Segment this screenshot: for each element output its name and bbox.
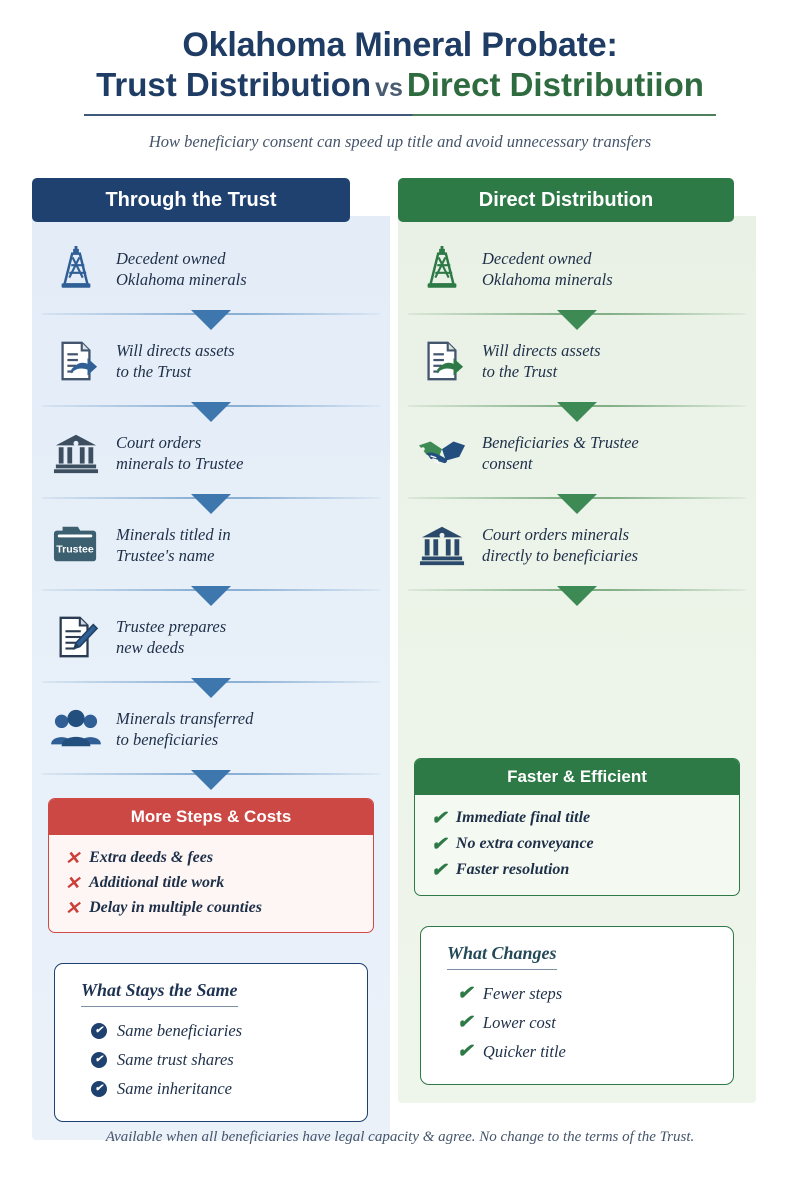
flow-connector xyxy=(32,482,390,516)
flow-connector xyxy=(398,390,756,424)
outcome-item: ✔Faster resolution xyxy=(431,857,739,883)
title-block: Oklahoma Mineral Probate: Trust Distribu… xyxy=(0,0,800,152)
step-label: Decedent owned Oklahoma minerals xyxy=(482,248,613,291)
step-label: Court orders minerals to Trustee xyxy=(116,432,243,475)
step-label: Minerals transferred to beneficiaries xyxy=(116,708,253,751)
cross-icon: ✕ xyxy=(65,849,80,867)
step-item: Court orders minerals directly to benefi… xyxy=(398,516,756,574)
step-label: Trustee prepares new deeds xyxy=(116,616,226,659)
step-label: Minerals titled in Trustee's name xyxy=(116,524,231,567)
infographic-page: Oklahoma Mineral Probate: Trust Distribu… xyxy=(0,0,800,1200)
check-icon: ✔ xyxy=(431,835,447,854)
summary-item: ✔Same beneficiaries xyxy=(81,1016,345,1045)
summary-item: ✔Fewer steps xyxy=(447,979,711,1008)
down-arrow-icon xyxy=(191,402,231,422)
check-icon: ✔ xyxy=(457,1013,473,1032)
outcome-item: ✕Additional title work xyxy=(65,870,373,895)
courthouse-icon xyxy=(416,519,468,571)
column-through-the-trust: Through the Trust Decedent owned Oklahom… xyxy=(32,178,390,1140)
summary-item: ✔Same inheritance xyxy=(81,1074,345,1103)
outcome-box-drawbacks: More Steps & Costs ✕Extra deeds & fees ✕… xyxy=(48,798,374,933)
flow-connector xyxy=(32,666,390,700)
outcome-list: ✔Immediate final title ✔No extra conveya… xyxy=(415,795,739,895)
outcome-item-label: Additional title work xyxy=(89,874,224,892)
summary-title: What Stays the Same xyxy=(81,980,238,1007)
trustee-folder-icon: Trustee xyxy=(50,519,102,571)
outcome-header: More Steps & Costs xyxy=(49,799,373,835)
summary-box-what-changes: What Changes ✔Fewer steps ✔Lower cost ✔Q… xyxy=(420,926,734,1085)
step-label: Beneficiaries & Trustee consent xyxy=(482,432,639,475)
outcome-item: ✔No extra conveyance xyxy=(431,831,739,857)
page-title-line1: Oklahoma Mineral Probate: xyxy=(40,26,760,64)
flow-connector xyxy=(32,758,390,792)
summary-item: ✔Lower cost xyxy=(447,1008,711,1037)
down-arrow-icon xyxy=(557,494,597,514)
down-arrow-icon xyxy=(557,586,597,606)
summary-item: ✔Same trust shares xyxy=(81,1045,345,1074)
step-item: Minerals transferred to beneficiaries xyxy=(32,700,390,758)
summary-title: What Changes xyxy=(447,943,557,970)
flow-connector xyxy=(32,298,390,332)
oil-derrick-icon xyxy=(50,243,102,295)
check-circle-icon: ✔ xyxy=(91,1081,107,1097)
down-arrow-icon xyxy=(191,678,231,698)
summary-item: ✔Quicker title xyxy=(447,1037,711,1066)
step-item: Trustee prepares new deeds xyxy=(32,608,390,666)
courthouse-icon xyxy=(50,427,102,479)
document-arrow-icon xyxy=(416,335,468,387)
summary-item-label: Lower cost xyxy=(483,1013,556,1033)
down-arrow-icon xyxy=(557,402,597,422)
oil-derrick-icon xyxy=(416,243,468,295)
outcome-item: ✔Immediate final title xyxy=(431,805,739,831)
title-right-term: Direct Distributiion xyxy=(407,66,704,103)
outcome-list: ✕Extra deeds & fees ✕Additional title wo… xyxy=(49,835,373,932)
check-icon: ✔ xyxy=(457,1042,473,1061)
flow-connector xyxy=(398,298,756,332)
comparison-columns: Through the Trust Decedent owned Oklahom… xyxy=(0,178,800,1140)
outcome-item-label: Delay in multiple counties xyxy=(89,899,262,917)
column-header-right: Direct Distribution xyxy=(398,178,734,222)
title-left-term: Trust Distribution xyxy=(96,66,371,103)
outcome-item-label: Extra deeds & fees xyxy=(89,849,213,867)
summary-item-label: Same inheritance xyxy=(117,1079,232,1099)
page-title-line2: Trust DistributionvsDirect Distributiion xyxy=(40,66,760,105)
step-item: Will directs assets to the Trust xyxy=(32,332,390,390)
step-label: Will directs assets to the Trust xyxy=(482,340,601,383)
step-item: Court orders minerals to Trustee xyxy=(32,424,390,482)
column-direct-distribution: Direct Distribution Decedent owned Oklah… xyxy=(398,178,756,1140)
title-divider xyxy=(84,114,716,116)
document-pen-icon xyxy=(50,611,102,663)
down-arrow-icon xyxy=(191,310,231,330)
outcome-item-label: Immediate final title xyxy=(456,809,590,827)
step-item: Decedent owned Oklahoma minerals xyxy=(398,240,756,298)
column-body-left: Decedent owned Oklahoma minerals Will di… xyxy=(32,216,390,1140)
flow-connector xyxy=(32,574,390,608)
check-circle-icon: ✔ xyxy=(91,1023,107,1039)
title-vs: vs xyxy=(371,74,407,102)
step-label: Court orders minerals directly to benefi… xyxy=(482,524,638,567)
summary-item-label: Fewer steps xyxy=(483,984,562,1004)
outcome-item-label: No extra conveyance xyxy=(456,835,594,853)
column-body-right: Decedent owned Oklahoma minerals Will di… xyxy=(398,216,756,1103)
flow-connector xyxy=(398,574,756,752)
subtitle: How beneficiary consent can speed up tit… xyxy=(40,132,760,152)
down-arrow-icon xyxy=(557,310,597,330)
flow-connector xyxy=(398,482,756,516)
step-label: Will directs assets to the Trust xyxy=(116,340,235,383)
step-item: Beneficiaries & Trustee consent xyxy=(398,424,756,482)
step-item: Trustee Minerals titled in Trustee's nam… xyxy=(32,516,390,574)
cross-icon: ✕ xyxy=(65,874,80,892)
footer-note: Available when all beneficiaries have le… xyxy=(0,1129,800,1146)
step-label: Decedent owned Oklahoma minerals xyxy=(116,248,247,291)
summary-item-label: Same beneficiaries xyxy=(117,1021,242,1041)
step-item: Decedent owned Oklahoma minerals xyxy=(32,240,390,298)
people-group-icon xyxy=(50,703,102,755)
outcome-item: ✕Delay in multiple counties xyxy=(65,895,373,920)
summary-item-label: Same trust shares xyxy=(117,1050,234,1070)
handshake-icon xyxy=(416,427,468,479)
svg-text:Trustee: Trustee xyxy=(56,544,94,556)
check-circle-icon: ✔ xyxy=(91,1052,107,1068)
down-arrow-icon xyxy=(191,770,231,790)
check-icon: ✔ xyxy=(457,984,473,1003)
column-header-left: Through the Trust xyxy=(32,178,350,222)
outcome-item: ✕Extra deeds & fees xyxy=(65,845,373,870)
down-arrow-icon xyxy=(191,494,231,514)
summary-item-label: Quicker title xyxy=(483,1042,566,1062)
summary-box-what-stays-the-same: What Stays the Same ✔Same beneficiaries … xyxy=(54,963,368,1122)
outcome-item-label: Faster resolution xyxy=(456,861,569,879)
outcome-header: Faster & Efficient xyxy=(415,759,739,795)
down-arrow-icon xyxy=(191,586,231,606)
outcome-box-benefits: Faster & Efficient ✔Immediate final titl… xyxy=(414,758,740,896)
document-arrow-icon xyxy=(50,335,102,387)
check-icon: ✔ xyxy=(431,861,447,880)
cross-icon: ✕ xyxy=(65,899,80,917)
check-icon: ✔ xyxy=(431,809,447,828)
flow-connector xyxy=(32,390,390,424)
step-item: Will directs assets to the Trust xyxy=(398,332,756,390)
